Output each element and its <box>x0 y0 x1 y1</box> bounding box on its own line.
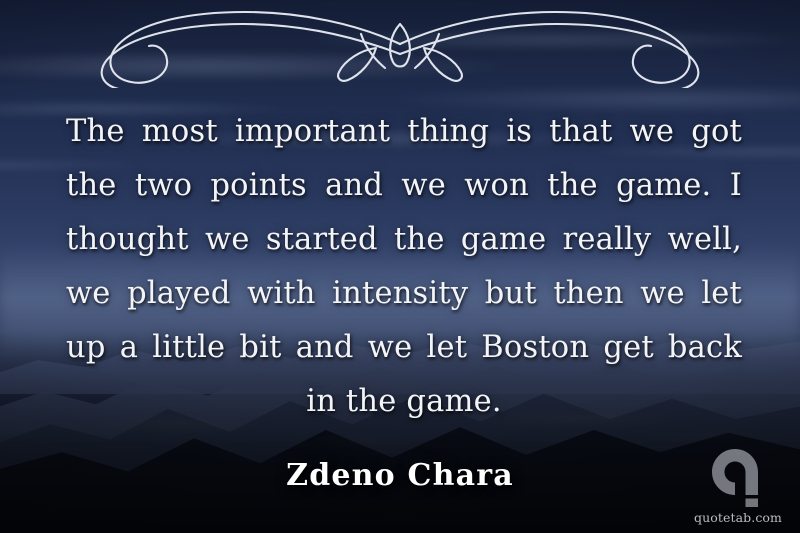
quotetab-q-logo-icon <box>688 447 788 509</box>
watermark[interactable]: quotetab.com <box>688 447 788 525</box>
watermark-site-text: quotetab.com <box>688 510 788 525</box>
quote-card: The most important thing is that we got … <box>0 0 800 533</box>
flourish-ornament-icon <box>85 6 715 88</box>
quote-text: The most important thing is that we got … <box>66 105 742 429</box>
quote-author: Zdeno Chara <box>0 458 800 493</box>
